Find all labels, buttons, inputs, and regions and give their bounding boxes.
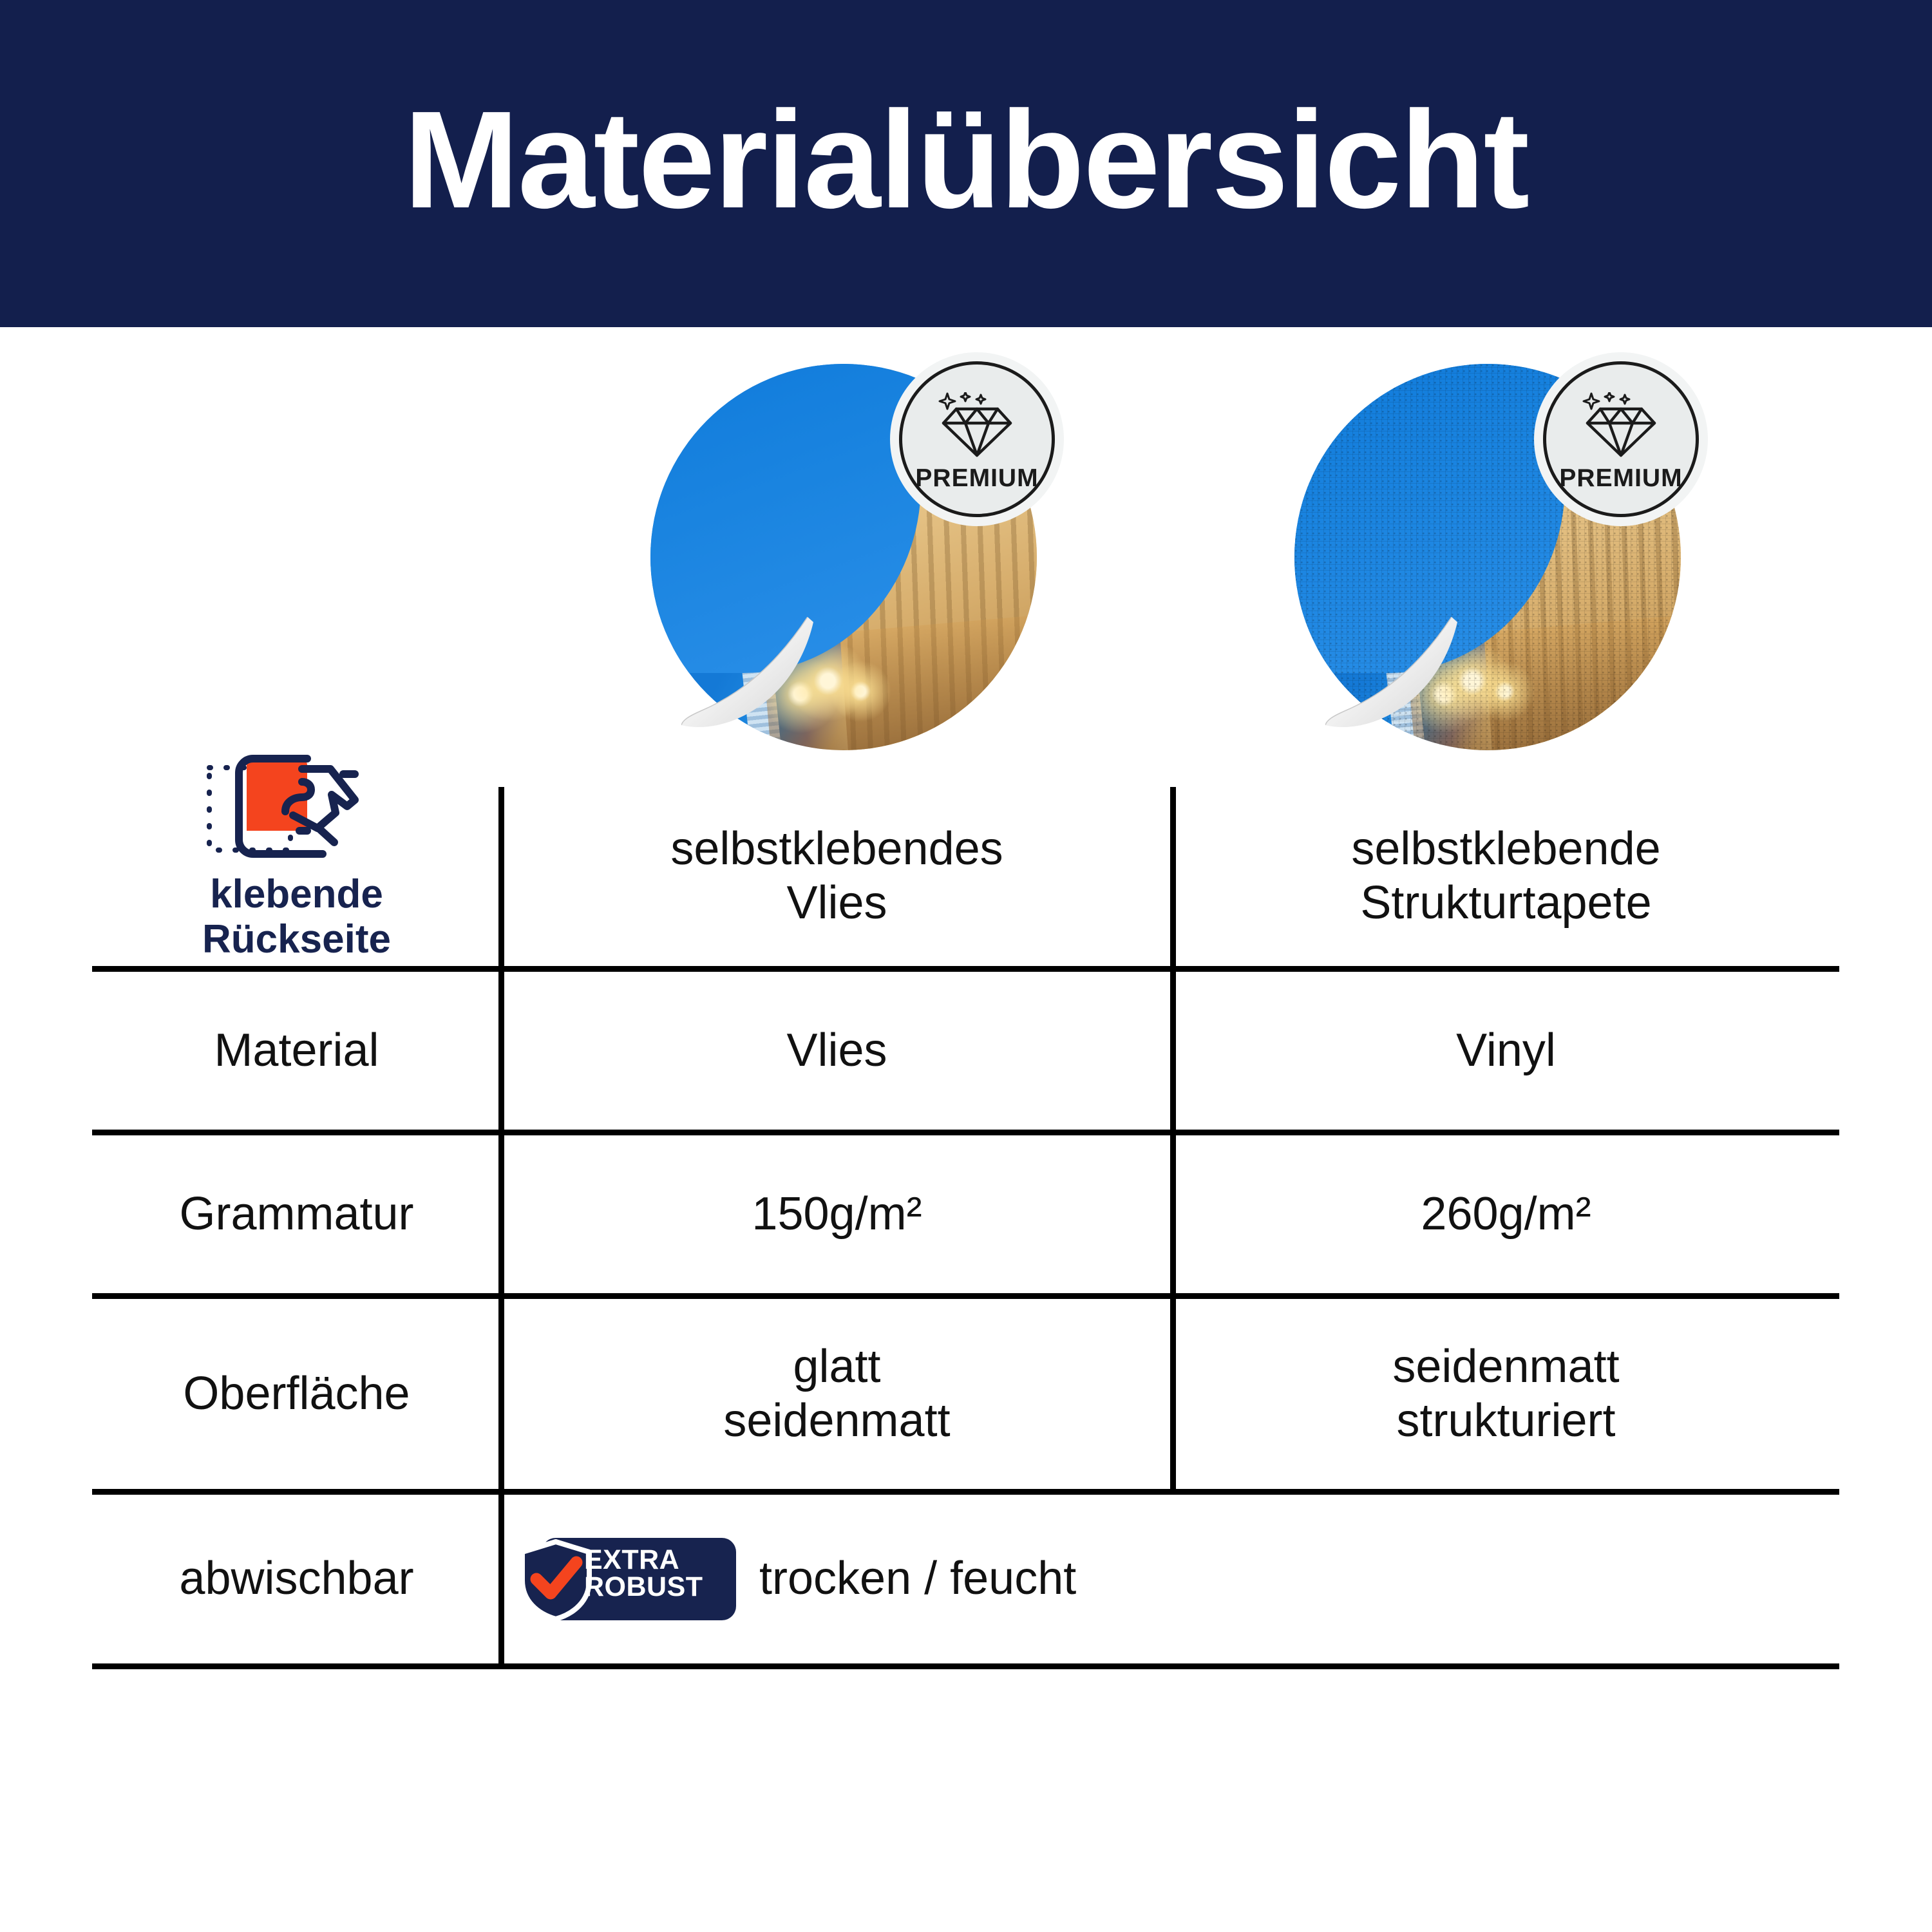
table-row-abwischbar: abwischbar EXTRA ROBUST trocken / feucht [92, 1495, 1839, 1669]
extra-robust-line1: EXTRA [584, 1544, 679, 1575]
cell-oberflaeche-strukturtapete: seidenmatt strukturiert [1173, 1299, 1839, 1489]
diamond-icon [937, 392, 1017, 459]
table-row-material: Material Vlies Vinyl [92, 972, 1839, 1135]
abwischbar-value-text: trocken / feucht [759, 1552, 1076, 1606]
material-sample-vlies: PREMIUM [650, 364, 1037, 750]
column-divider-2 [1170, 787, 1176, 966]
row-label-material: Material [92, 972, 501, 1130]
column-header-vlies: selbstklebendes Vlies [501, 787, 1173, 966]
cell-material-vlies: Vlies [501, 972, 1173, 1130]
column-divider-2 [1170, 1135, 1176, 1293]
adhesive-label-line2: Rückseite [202, 917, 391, 961]
premium-badge: PREMIUM [899, 361, 1055, 517]
material-overview-table: klebende Rückseite selbstklebendes Vlies… [92, 787, 1839, 1669]
adhesive-backing-label: klebende Rückseite [202, 872, 391, 962]
cell-grammatur-strukturtapete: 260g/m² [1173, 1135, 1839, 1293]
premium-badge-label: PREMIUM [915, 466, 1038, 491]
cell-oberflaeche-vlies: glatt seidenmatt [501, 1299, 1173, 1489]
column-divider-2 [1170, 1299, 1176, 1489]
cell-abwischbar-value: EXTRA ROBUST trocken / feucht [501, 1495, 1839, 1663]
column-header-strukturtapete: selbstklebende Strukturtapete [1173, 787, 1839, 966]
table-row-oberflaeche: Oberfläche glatt seidenmatt seidenmatt s… [92, 1299, 1839, 1495]
row-label-abwischbar: abwischbar [92, 1495, 501, 1663]
column-divider-1 [498, 1135, 504, 1293]
column-header-strukturtapete-line1: selbstklebende [1351, 823, 1660, 875]
adhesive-backing-cell: klebende Rückseite [92, 787, 501, 966]
extra-robust-label: EXTRA ROBUST [584, 1546, 703, 1600]
diamond-icon [1581, 392, 1661, 459]
cell-oberflaeche-strukturtapete-line2: strukturiert [1396, 1395, 1615, 1446]
table-row-header: klebende Rückseite selbstklebendes Vlies… [92, 787, 1839, 972]
header-bar: Materialübersicht [0, 0, 1932, 327]
column-header-strukturtapete-line2: Strukturtapete [1360, 877, 1651, 929]
peeling-adhesive-backing-icon [200, 748, 387, 877]
extra-robust-line2: ROBUST [584, 1571, 703, 1602]
cell-grammatur-vlies: 150g/m² [501, 1135, 1173, 1293]
column-divider-2 [1170, 972, 1176, 1130]
column-header-vlies-line1: selbstklebendes [670, 823, 1003, 875]
premium-badge: PREMIUM [1543, 361, 1699, 517]
shield-check-icon [517, 1539, 594, 1622]
row-label-oberflaeche: Oberfläche [92, 1299, 501, 1489]
adhesive-label-line1: klebende [210, 872, 383, 916]
premium-badge-label: PREMIUM [1559, 466, 1682, 491]
page-title: Materialübersicht [404, 90, 1528, 238]
cell-oberflaeche-vlies-line2: seidenmatt [723, 1395, 950, 1446]
table-row-grammatur: Grammatur 150g/m² 260g/m² [92, 1135, 1839, 1299]
row-label-grammatur: Grammatur [92, 1135, 501, 1293]
cell-oberflaeche-vlies-line1: glatt [793, 1341, 880, 1392]
column-divider-1 [498, 972, 504, 1130]
cell-oberflaeche-strukturtapete-line1: seidenmatt [1392, 1341, 1619, 1392]
material-sample-strukturtapete: PREMIUM [1294, 364, 1681, 750]
column-divider-1 [498, 1299, 504, 1489]
column-divider-1 [498, 1495, 504, 1663]
cell-material-strukturtapete: Vinyl [1173, 972, 1839, 1130]
column-divider-1 [498, 787, 504, 966]
extra-robust-badge: EXTRA ROBUST [517, 1538, 736, 1620]
column-header-vlies-line2: Vlies [786, 877, 887, 929]
